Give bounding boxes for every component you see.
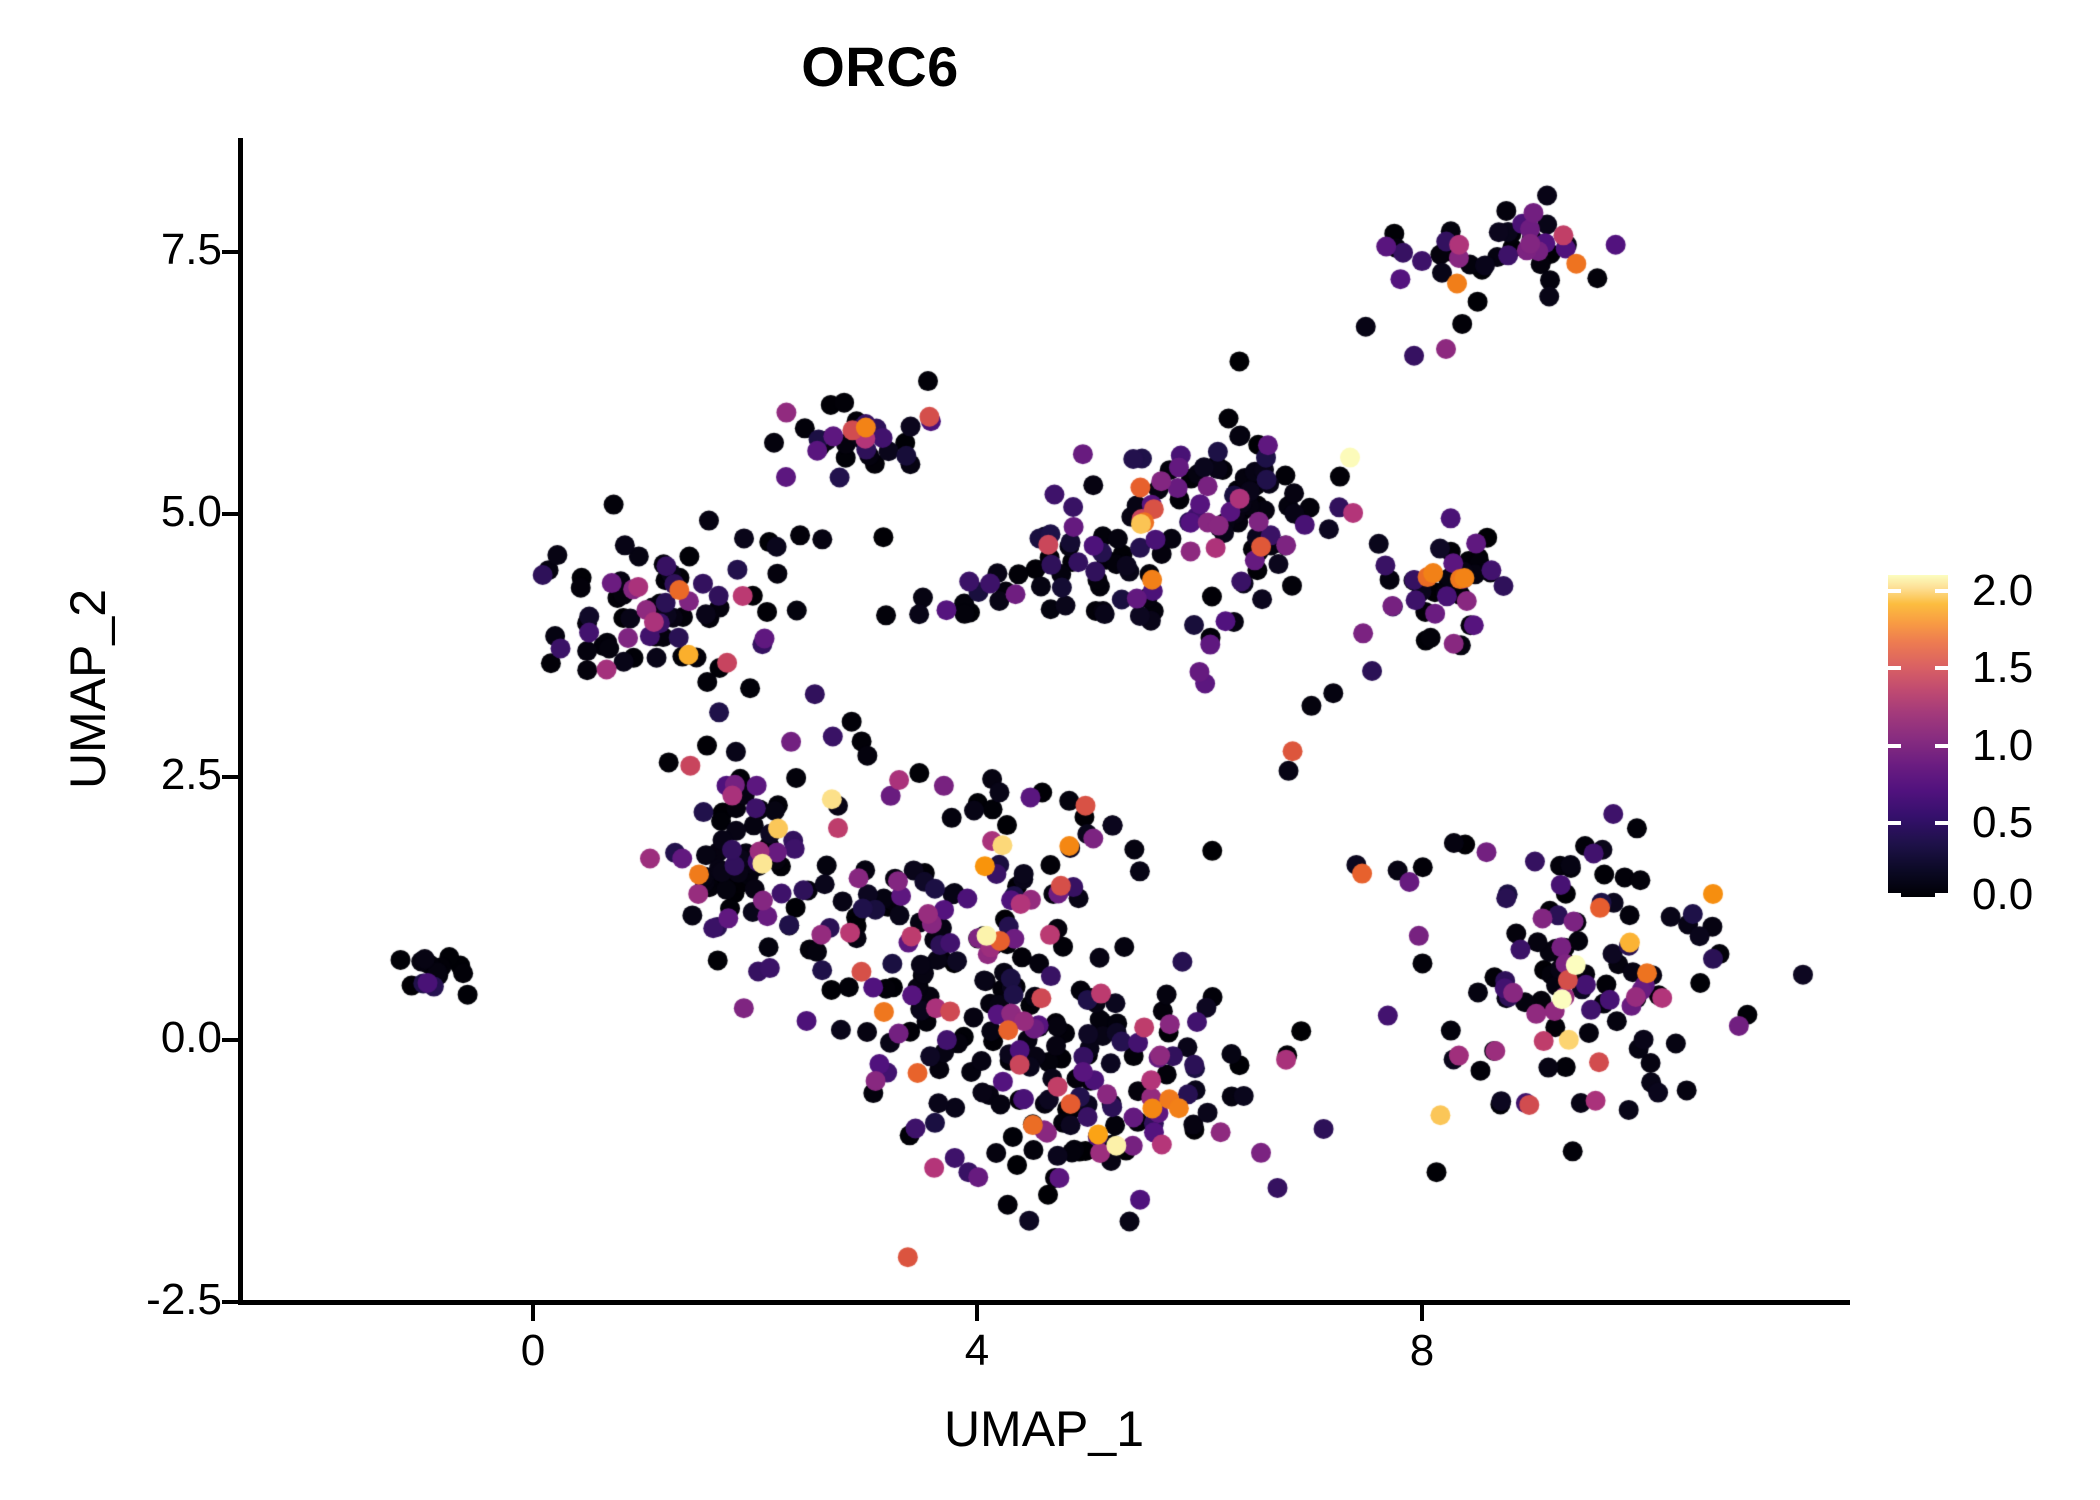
y-tick-label-0.0: 0.0 — [161, 1013, 222, 1063]
y-tick-label-7.5: 7.5 — [161, 225, 222, 275]
y-tick-mark-7.5 — [222, 250, 238, 254]
y-tick-label-5.0: 5.0 — [161, 487, 222, 537]
y-tick-label-2.5: 2.5 — [161, 750, 222, 800]
colorbar-tick-2.0-right — [1935, 589, 1948, 593]
colorbar-tick-2.0-left — [1888, 589, 1901, 593]
x-tick-label-4: 4 — [965, 1326, 989, 1376]
x-tick-mark-0 — [531, 1305, 535, 1321]
plot-area — [0, 0, 2100, 1500]
colorbar-tick-1.5-left — [1888, 666, 1901, 670]
x-tick-mark-4 — [975, 1305, 979, 1321]
umap-feature-plot: ORC6 7.5 5.0 2.5 0.0 -2.5 0 4 8 UMAP_1 U… — [0, 0, 2100, 1500]
x-tick-label-0: 0 — [521, 1326, 545, 1376]
colorbar-tick-0.5-right — [1935, 821, 1948, 825]
x-axis-line — [238, 1300, 1850, 1305]
colorbar-label-2.0: 2.0 — [1972, 566, 2033, 616]
colorbar-tick-0.5-left — [1888, 821, 1901, 825]
y-tick-mark--2.5 — [222, 1300, 238, 1304]
x-axis-title: UMAP_1 — [238, 1400, 1850, 1458]
y-tick-label--2.5: -2.5 — [146, 1275, 222, 1325]
colorbar-tick-1.0-right — [1935, 744, 1948, 748]
colorbar-tick-0.0-left — [1888, 893, 1901, 897]
y-tick-mark-0.0 — [222, 1038, 238, 1042]
colorbar-tick-1.5-right — [1935, 666, 1948, 670]
y-tick-mark-5.0 — [222, 512, 238, 516]
x-tick-mark-8 — [1420, 1305, 1424, 1321]
colorbar-tick-0.0-right — [1935, 893, 1948, 897]
scatter-points-canvas — [0, 0, 2100, 1500]
x-tick-label-8: 8 — [1410, 1326, 1434, 1376]
colorbar-tick-1.0-left — [1888, 744, 1901, 748]
colorbar-label-0.0: 0.0 — [1972, 870, 2033, 920]
y-tick-mark-2.5 — [222, 775, 238, 779]
colorbar-label-1.5: 1.5 — [1972, 643, 2033, 693]
colorbar-gradient — [1888, 575, 1948, 897]
colorbar-label-0.5: 0.5 — [1972, 798, 2033, 848]
y-axis-title: UMAP_2 — [59, 339, 117, 1039]
colorbar-label-1.0: 1.0 — [1972, 721, 2033, 771]
y-axis-line — [238, 138, 243, 1303]
